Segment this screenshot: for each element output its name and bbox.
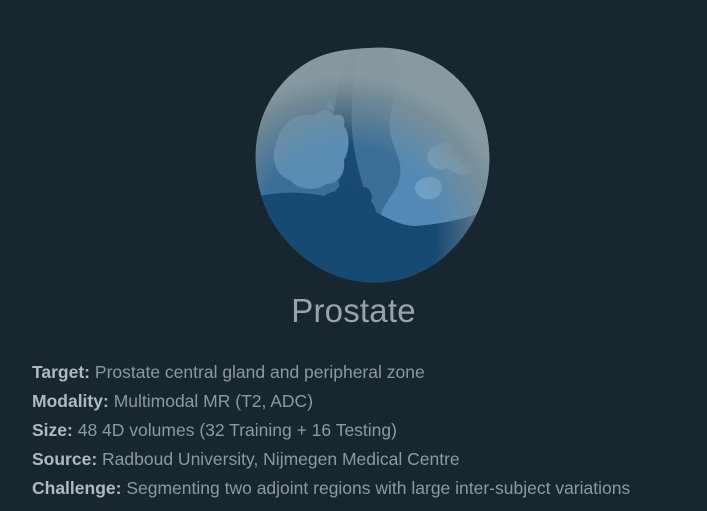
detail-label-modality: Modality: bbox=[32, 391, 109, 411]
detail-value-source: Radboud University, Nijmegen Medical Cen… bbox=[102, 449, 460, 469]
dataset-card: Prostate Target: Prostate central gland … bbox=[0, 0, 707, 511]
detail-value-challenge: Segmenting two adjoint regions with larg… bbox=[126, 478, 630, 498]
dataset-details: Target: Prostate central gland and perip… bbox=[32, 358, 692, 503]
detail-label-target: Target: bbox=[32, 362, 90, 382]
detail-row-target: Target: Prostate central gland and perip… bbox=[32, 358, 692, 387]
prostate-organ-illustration bbox=[240, 34, 506, 292]
detail-label-size: Size: bbox=[32, 420, 73, 440]
detail-row-source: Source: Radboud University, Nijmegen Med… bbox=[32, 445, 692, 474]
detail-value-modality: Multimodal MR (T2, ADC) bbox=[114, 391, 313, 411]
detail-value-target: Prostate central gland and peripheral zo… bbox=[95, 362, 425, 382]
page-title: Prostate bbox=[0, 291, 707, 331]
detail-row-modality: Modality: Multimodal MR (T2, ADC) bbox=[32, 387, 692, 416]
detail-row-size: Size: 48 4D volumes (32 Training + 16 Te… bbox=[32, 416, 692, 445]
detail-label-challenge: Challenge: bbox=[32, 478, 121, 498]
organ-edge-glow bbox=[240, 34, 506, 292]
detail-value-size: 48 4D volumes (32 Training + 16 Testing) bbox=[78, 420, 397, 440]
detail-row-challenge: Challenge: Segmenting two adjoint region… bbox=[32, 474, 692, 503]
detail-label-source: Source: bbox=[32, 449, 97, 469]
